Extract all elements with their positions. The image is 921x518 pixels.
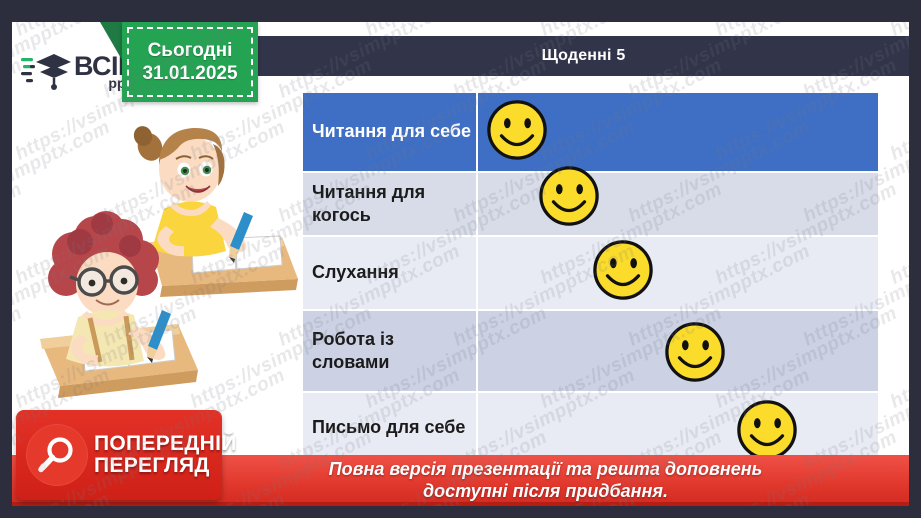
purchase-notice-line1: Повна версія презентації та решта доповн…: [329, 459, 763, 479]
table-row-label: Робота із словами: [303, 311, 478, 391]
smiley-face-icon: [736, 399, 798, 461]
slide-title-bar: Щоденні 5: [258, 36, 909, 76]
table-row-cells: [478, 237, 878, 309]
table-row-cells: [478, 393, 878, 463]
daily5-table: Читання для себе Читання для когось: [303, 93, 878, 463]
table-row-label: Читання для когось: [303, 173, 478, 235]
page-title: Щоденні 5: [542, 47, 626, 65]
table-row-cells: [478, 311, 878, 391]
two-children-writing-illustration: [30, 114, 300, 414]
smiley-face-icon: [592, 239, 654, 301]
table-row-cells: [478, 93, 878, 171]
smiley-face-icon: [664, 321, 726, 383]
graduation-cap-icon: [20, 50, 72, 94]
smiley-face-icon: [486, 99, 548, 161]
today-badge-fold: [100, 22, 122, 60]
banner-bottom-edge: [12, 502, 909, 506]
preview-icon-circle: [26, 424, 88, 486]
slide-screenshot: ВСІМ pptx: [0, 0, 921, 518]
table-row[interactable]: Письмо для себе: [303, 391, 878, 463]
table-row[interactable]: Робота із словами: [303, 309, 878, 391]
slide-canvas: ВСІМ pptx: [12, 22, 909, 506]
purchase-notice-text: Повна версія презентації та решта доповн…: [159, 459, 763, 501]
preview-button-line1: ПОПЕРЕДНІЙ: [94, 432, 237, 455]
today-date: 31.01.2025: [142, 62, 237, 85]
table-row-label: Слухання: [303, 237, 478, 309]
preview-button-label: ПОПЕРЕДНІЙ ПЕРЕГЛЯД: [94, 433, 237, 478]
preview-button[interactable]: ПОПЕРЕДНІЙ ПЕРЕГЛЯД: [16, 410, 222, 500]
table-row-label: Письмо для себе: [303, 393, 478, 463]
table-row-cells: [478, 173, 878, 235]
table-row[interactable]: Читання для себе: [303, 93, 878, 171]
preview-button-line2: ПЕРЕГЛЯД: [94, 454, 210, 477]
table-row[interactable]: Слухання: [303, 235, 878, 309]
magnifier-icon: [37, 435, 77, 475]
today-badge: Сьогодні 31.01.2025: [122, 22, 258, 102]
purchase-notice-line2: доступні після придбання.: [423, 481, 668, 501]
table-row-label: Читання для себе: [303, 93, 478, 171]
today-label: Сьогодні: [148, 39, 233, 62]
smiley-face-icon: [538, 165, 600, 227]
table-row[interactable]: Читання для когось: [303, 171, 878, 235]
